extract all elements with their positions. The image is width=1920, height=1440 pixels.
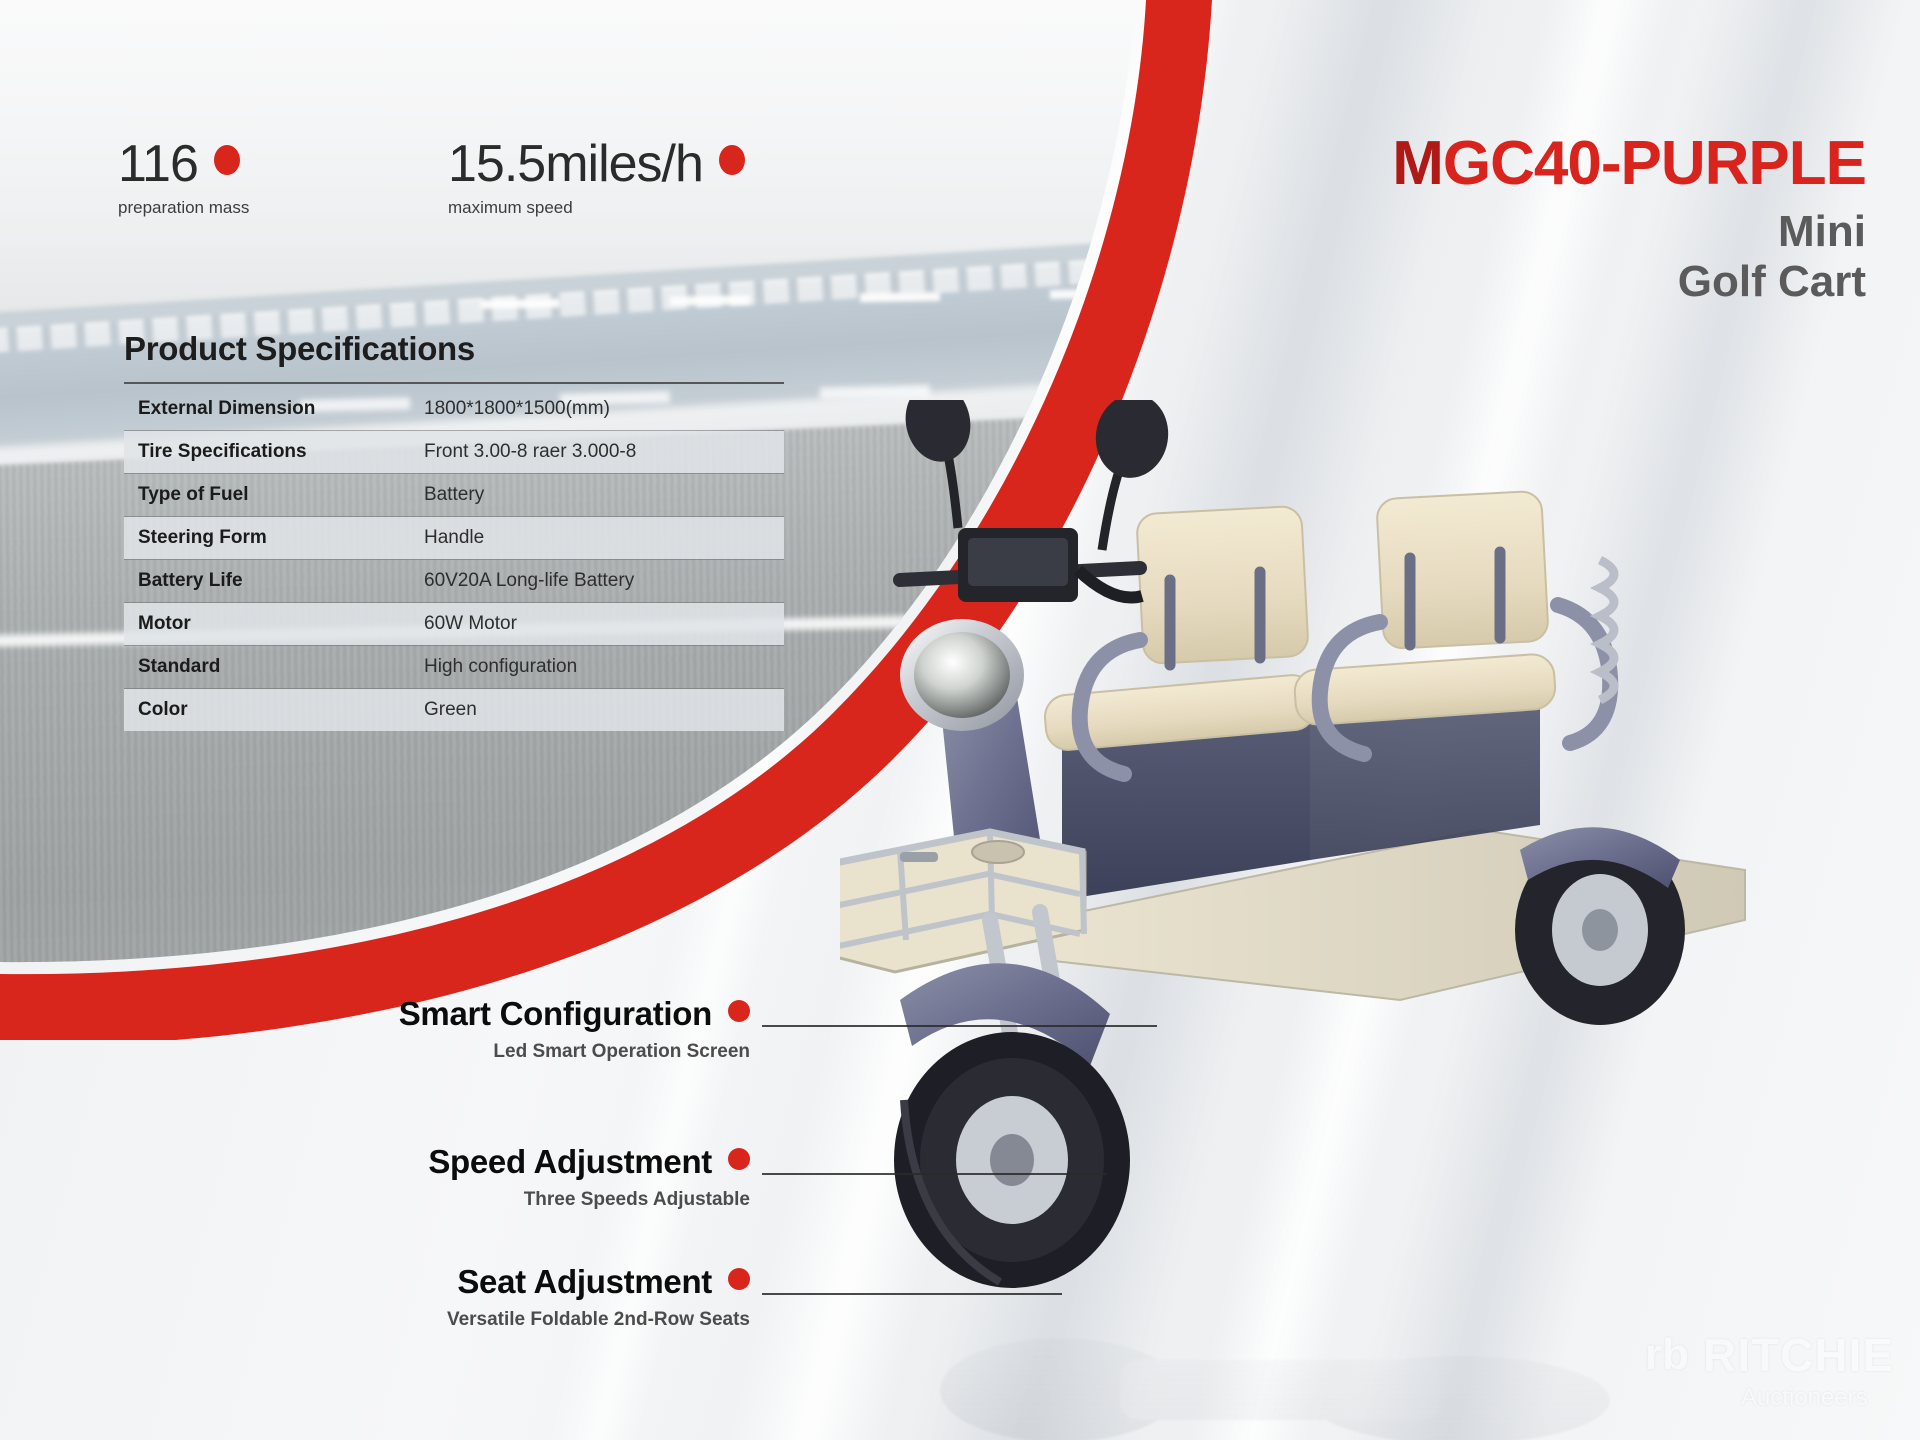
spec-row-divider	[124, 516, 784, 517]
mini-golf-cart-image	[840, 400, 1850, 1340]
stat-value: 116	[118, 138, 249, 190]
stat-maximum-speed: 15.5miles/h maximum speed	[448, 138, 745, 218]
callout-description: Three Speeds Adjustable	[428, 1189, 750, 1211]
product-subtitle: Mini Golf Cart	[1392, 207, 1866, 306]
product-title-block: MGC40-PURPLE Mini Golf Cart	[1392, 132, 1866, 306]
spec-value: High configuration	[424, 656, 577, 678]
callout-leader-line	[762, 1025, 1157, 1027]
callout-title: Speed Adjustment	[428, 1143, 750, 1181]
spec-row: ColorGreen	[124, 689, 784, 731]
headlamp	[914, 632, 1010, 718]
stat-caption: maximum speed	[448, 198, 745, 218]
model-rest: GC40-PURPLE	[1443, 129, 1866, 198]
specs-table: External Dimension1800*1800*1500(mm)Tire…	[124, 388, 784, 731]
spec-key: Battery Life	[124, 570, 424, 592]
spec-row: StandardHigh configuration	[124, 646, 784, 688]
spec-row: Motor60W Motor	[124, 603, 784, 645]
stat-preparation-mass: 116 preparation mass	[118, 138, 249, 218]
spec-row-divider	[124, 602, 784, 603]
spec-row-divider	[124, 473, 784, 474]
callout-leader-line	[762, 1293, 1062, 1295]
mirror-left	[898, 400, 977, 528]
spec-value: 1800*1800*1500(mm)	[424, 398, 610, 420]
spec-key: Color	[124, 699, 424, 721]
red-dot-icon	[214, 145, 240, 175]
product-specifications: Product Specifications External Dimensio…	[124, 330, 784, 731]
stat-caption: preparation mass	[118, 198, 249, 218]
product-poster: 116 preparation mass 15.5miles/h maximum…	[0, 0, 1920, 1440]
spec-row-divider	[124, 559, 784, 560]
spec-key: Steering Form	[124, 527, 424, 549]
spec-row: Type of FuelBattery	[124, 474, 784, 516]
spec-key: Standard	[124, 656, 424, 678]
key-stats: 116 preparation mass 15.5miles/h maximum…	[0, 138, 900, 228]
red-dot-icon	[728, 1000, 750, 1022]
spec-key: Tire Specifications	[124, 441, 424, 463]
seat-rear	[1293, 491, 1556, 726]
callout-seat-adjustment: Seat Adjustment Versatile Foldable 2nd-R…	[447, 1263, 750, 1331]
subtitle-line-1: Mini	[1392, 207, 1866, 256]
spec-key: Motor	[124, 613, 424, 635]
spec-value: Handle	[424, 527, 484, 549]
callout-title: Seat Adjustment	[447, 1263, 750, 1301]
spec-row: External Dimension1800*1800*1500(mm)	[124, 388, 784, 430]
spec-value: Battery	[424, 484, 484, 506]
subtitle-line-2: Golf Cart	[1392, 257, 1866, 306]
callout-description: Versatile Foldable 2nd-Row Seats	[447, 1309, 750, 1331]
spec-key: Type of Fuel	[124, 484, 424, 506]
spec-value: 60W Motor	[424, 613, 517, 635]
spec-row-divider	[124, 430, 784, 431]
callout-description: Led Smart Operation Screen	[399, 1041, 750, 1063]
specs-heading: Product Specifications	[124, 330, 784, 368]
product-model: MGC40-PURPLE	[1392, 132, 1866, 195]
spec-value: 60V20A Long-life Battery	[424, 570, 634, 592]
callout-leader-line	[762, 1173, 1107, 1175]
screen-glass	[968, 538, 1068, 586]
spec-row-divider	[124, 688, 784, 689]
callout-title: Smart Configuration	[399, 995, 750, 1033]
specs-divider	[124, 382, 784, 384]
vehicle-reflection	[860, 1270, 1760, 1440]
red-dot-icon	[719, 145, 745, 175]
spec-key: External Dimension	[124, 398, 424, 420]
callout-speed-adjustment: Speed Adjustment Three Speeds Adjustable	[428, 1143, 750, 1211]
callout-smart-configuration: Smart Configuration Led Smart Operation …	[399, 995, 750, 1063]
stat-value: 15.5miles/h	[448, 138, 745, 190]
red-dot-icon	[728, 1148, 750, 1170]
spec-row-divider	[124, 645, 784, 646]
spec-value: Green	[424, 699, 477, 721]
front-wheel	[894, 1032, 1130, 1288]
spec-value: Front 3.00-8 raer 3.000-8	[424, 441, 636, 463]
red-dot-icon	[728, 1268, 750, 1290]
spec-row: Tire SpecificationsFront 3.00-8 raer 3.0…	[124, 431, 784, 473]
spec-row: Steering FormHandle	[124, 517, 784, 559]
spec-row: Battery Life60V20A Long-life Battery	[124, 560, 784, 602]
model-initial: M	[1392, 129, 1443, 198]
